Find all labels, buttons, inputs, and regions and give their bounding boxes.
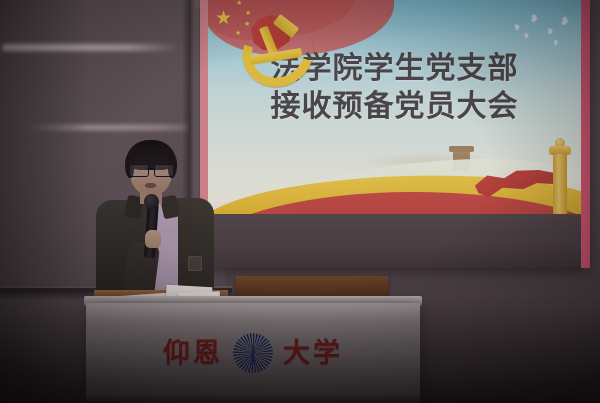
slide-lower-shadow <box>208 214 581 268</box>
flag-star-small-1: ★ <box>236 0 242 7</box>
projection-screen: ★ ★ ★ ★ ★ ❥ ❥ ❥ ❥ ❥ ❥ 法学院学生党支部 接收预备党员大会 <box>200 0 590 268</box>
glasses-icon <box>129 164 174 175</box>
slide-surface: ★ ★ ★ ★ ★ ❥ ❥ ❥ ❥ ❥ ❥ 法学院学生党支部 接收预备党员大会 <box>208 0 581 268</box>
slide-title-line-2: 接收预备党员大会 <box>208 88 581 126</box>
huabiao-column-icon <box>545 138 575 224</box>
photo-scene: ★ ★ ★ ★ ★ ❥ ❥ ❥ ❥ ❥ ❥ 法学院学生党支部 接收预备党员大会 <box>0 0 600 403</box>
logo-tower-shape <box>249 345 257 365</box>
dove-icon-3: ❥ <box>547 28 554 36</box>
dove-icon-6: ❥ <box>553 40 559 47</box>
podium-bottom-edge <box>86 392 420 403</box>
hammer-sickle-icon <box>240 12 320 74</box>
wall-right-panel <box>420 300 600 403</box>
dove-icon-4: ❥ <box>559 16 570 29</box>
speaker-mouth <box>145 183 156 188</box>
podium-word-left: 仰恩 <box>163 340 223 367</box>
wall-light-reflection-upper <box>2 44 180 51</box>
jacket-pocket-badge <box>188 256 202 271</box>
podium-word-right: 大学 <box>283 340 343 367</box>
podium-lettering: 仰恩 大学 <box>86 332 420 374</box>
speaker-hand <box>145 230 161 248</box>
dove-icon-1: ❥ <box>513 23 521 32</box>
dove-icon-5: ❥ <box>523 32 531 40</box>
dove-icon-2: ❥ <box>530 15 539 26</box>
glasses-lens-right <box>154 164 174 177</box>
glasses-lens-left <box>129 164 149 177</box>
flag-star-large: ★ <box>215 9 232 28</box>
university-sunburst-logo <box>233 333 273 373</box>
